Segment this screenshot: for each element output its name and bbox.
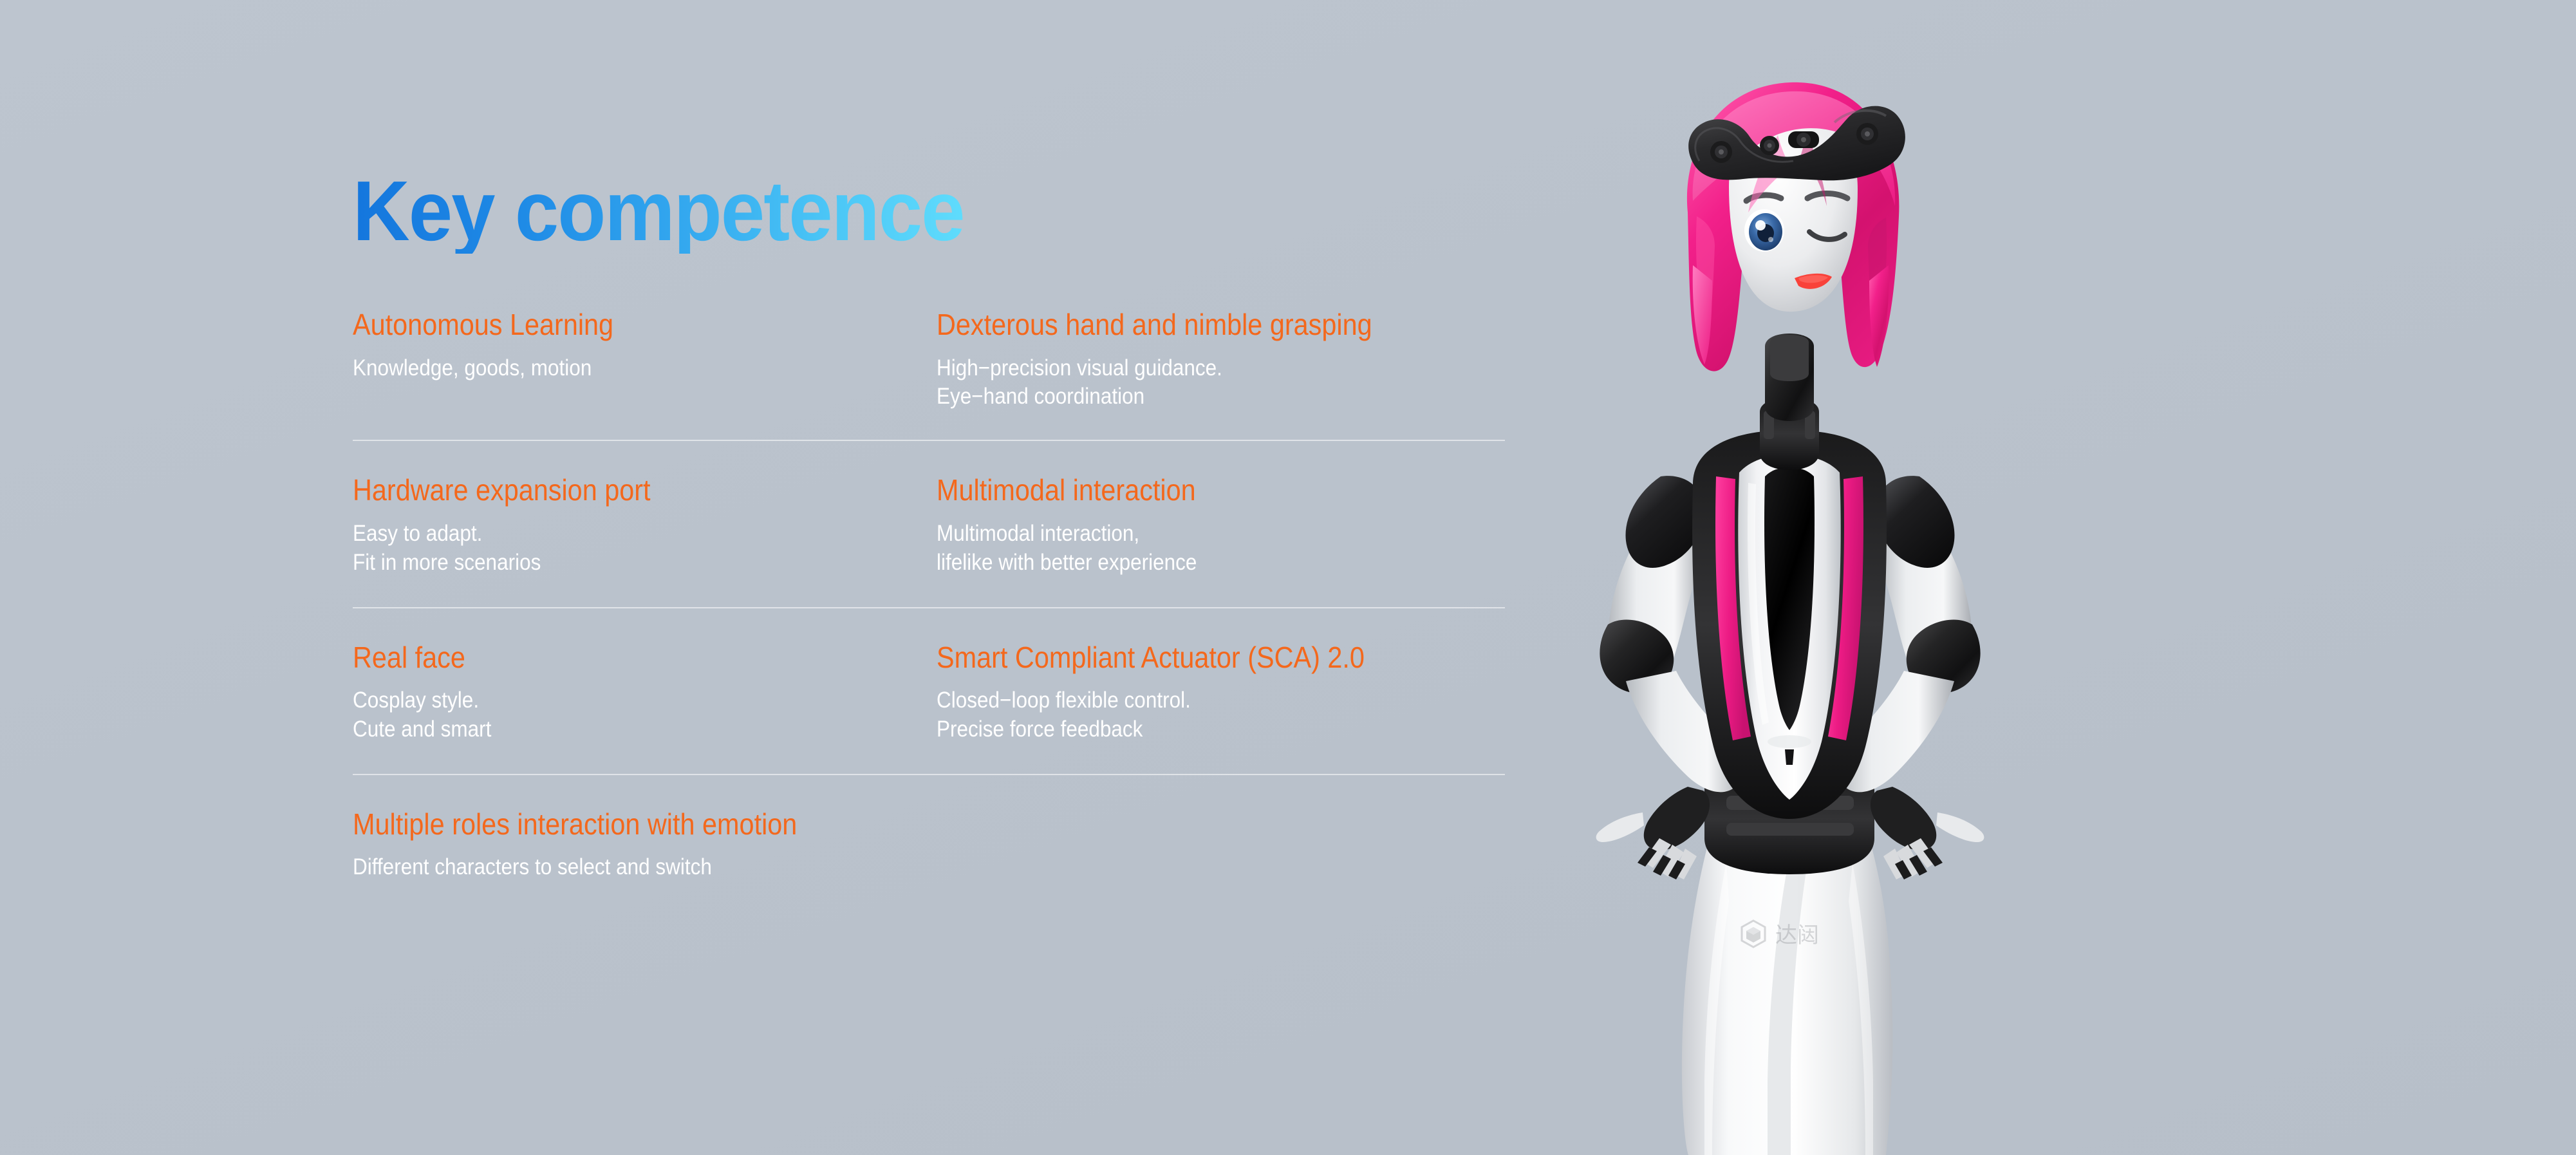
feature-description: Different characters to select and switc… <box>353 853 1390 882</box>
feature-description: Closed−loop flexible control. Precise fo… <box>937 686 1448 744</box>
feature-row: Autonomous Learning Knowledge, goods, mo… <box>353 309 1505 441</box>
feature-heading: Real face <box>353 642 872 674</box>
feature-description-line: High−precision visual guidance. <box>937 354 1448 383</box>
feature-description-line: Multimodal interaction, <box>937 520 1448 549</box>
feature-heading: Multiple roles interaction with emotion <box>353 809 1390 841</box>
feature-row: Hardware expansion port Easy to adapt. F… <box>353 474 1505 608</box>
feature-heading: Hardware expansion port <box>353 474 872 507</box>
slide-root: Key competence Autonomous Learning Knowl… <box>0 0 2576 1155</box>
feature-description: Multimodal interaction, lifelike with be… <box>937 520 1448 577</box>
page-title: Key competence <box>353 169 964 254</box>
feature-description: High−precision visual guidance. Eye−hand… <box>937 354 1448 412</box>
feature-description-line: Cosplay style. <box>353 686 872 715</box>
svg-text:达闼: 达闼 <box>1775 923 1819 948</box>
robot-head <box>1687 82 1905 371</box>
feature-description-line: Different characters to select and switc… <box>353 853 1390 882</box>
feature-description-line: Fit in more scenarios <box>353 549 872 577</box>
feature-row: Multiple roles interaction with emotion … <box>353 809 1505 882</box>
robot-torso <box>1692 398 1887 819</box>
robot-illustration: 达闼 <box>1500 26 2079 1155</box>
feature-description: Cosplay style. Cute and smart <box>353 686 872 744</box>
feature-cell-real-face: Real face Cosplay style. Cute and smart <box>353 642 929 774</box>
row-spacer <box>353 608 1505 642</box>
feature-heading: Multimodal interaction <box>937 474 1448 507</box>
feature-description-line: Easy to adapt. <box>353 520 872 549</box>
feature-description-line: Eye−hand coordination <box>937 382 1448 411</box>
row-spacer <box>353 441 1505 474</box>
feature-description: Easy to adapt. Fit in more scenarios <box>353 520 872 577</box>
feature-cell-dexterous-hand: Dexterous hand and nimble grasping High−… <box>929 309 1505 440</box>
robot-neck <box>1765 333 1814 421</box>
feature-description-line: Closed−loop flexible control. <box>937 686 1448 715</box>
feature-description-line: lifelike with better experience <box>937 549 1448 577</box>
feature-heading: Smart Compliant Actuator (SCA) 2.0 <box>937 642 1448 674</box>
row-spacer <box>353 775 1505 809</box>
feature-cell-hardware-expansion-port: Hardware expansion port Easy to adapt. F… <box>353 474 929 606</box>
feature-cell-multiple-roles: Multiple roles interaction with emotion … <box>353 809 1505 882</box>
feature-description-line: Knowledge, goods, motion <box>353 354 872 383</box>
feature-description-line: Precise force feedback <box>937 715 1448 744</box>
feature-heading: Dexterous hand and nimble grasping <box>937 309 1448 341</box>
robot-left-hand <box>1596 787 1710 879</box>
feature-cell-multimodal-interaction: Multimodal interaction Multimodal intera… <box>929 474 1505 606</box>
feature-cell-smart-compliant-actuator: Smart Compliant Actuator (SCA) 2.0 Close… <box>929 642 1505 774</box>
feature-row: Real face Cosplay style. Cute and smart … <box>353 642 1505 775</box>
feature-description-line: Cute and smart <box>353 715 872 744</box>
robot-lower-body <box>1682 840 1893 1155</box>
feature-grid: Autonomous Learning Knowledge, goods, mo… <box>353 309 1505 882</box>
robot-right-hand <box>1871 787 1984 879</box>
feature-description: Knowledge, goods, motion <box>353 354 872 383</box>
feature-heading: Autonomous Learning <box>353 309 872 341</box>
feature-cell-autonomous-learning: Autonomous Learning Knowledge, goods, mo… <box>353 309 929 440</box>
